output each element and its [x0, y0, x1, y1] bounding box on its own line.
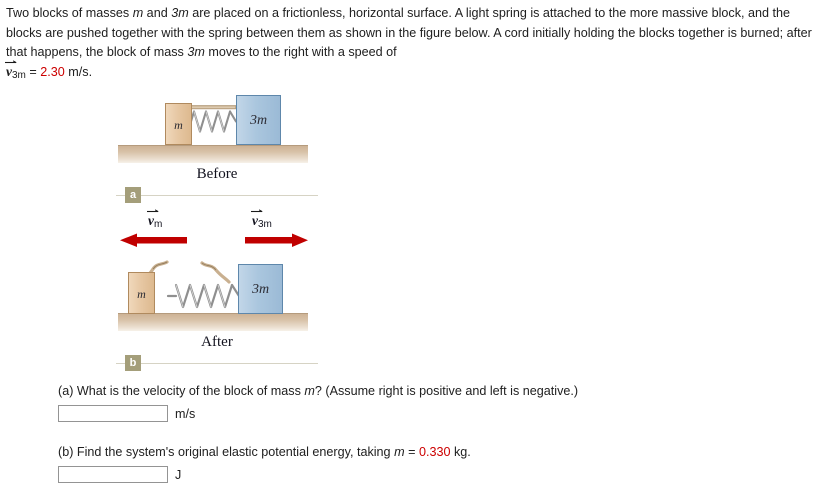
- question-b-var: m: [394, 445, 405, 459]
- question-a-label: (a) What is the velocity of the block of…: [58, 384, 304, 398]
- problem-var-3m-second: 3m: [187, 45, 205, 59]
- velocity-arrow-left-icon: [120, 234, 187, 248]
- question-a-var: m: [304, 384, 315, 398]
- physics-figure: m 3m Before a: [112, 90, 322, 358]
- answer-input-b[interactable]: [58, 466, 168, 483]
- problem-text-part4: moves to the right with a speed of: [205, 45, 397, 59]
- block-3m-label-after: 3m: [252, 282, 269, 297]
- velocity-right-subscript: 3m: [258, 219, 272, 230]
- velocity-arrow-right-icon: [245, 234, 308, 248]
- problem-text-part1: Two blocks of masses: [6, 6, 133, 20]
- figure-panel-after: vm v3m: [112, 210, 322, 358]
- velocity-label-left: vm: [148, 214, 162, 230]
- before-assembly: [112, 90, 322, 165]
- questions-section: (a) What is the velocity of the block of…: [58, 382, 818, 483]
- caption-before: Before: [112, 166, 322, 183]
- panel-tag-row-a: a: [112, 187, 322, 203]
- block-m-label-after: m: [137, 287, 146, 301]
- block-mass-m-before: m: [165, 103, 192, 145]
- panel-tag-row-b: b: [112, 355, 322, 371]
- question-a-text: (a) What is the velocity of the block of…: [58, 382, 818, 400]
- given-equals: =: [26, 65, 40, 79]
- question-b-label-end: kg.: [450, 445, 470, 459]
- question-a-label-end: ? (Assume right is positive and left is …: [315, 384, 578, 398]
- velocity-left-subscript: m: [154, 219, 162, 230]
- question-b-value: 0.330: [419, 445, 451, 459]
- block-mass-m-after: m: [128, 272, 155, 314]
- answer-unit-b: J: [175, 468, 181, 482]
- answer-unit-a: m/s: [175, 407, 195, 421]
- given-velocity-subscript: 3m: [12, 70, 26, 81]
- velocity-arrows-group: [112, 210, 322, 254]
- question-b: (b) Find the system's original elastic p…: [58, 443, 818, 483]
- vector-arrow-overbar-icon-left: [147, 207, 159, 214]
- block-m-label-before: m: [174, 118, 183, 132]
- given-units: m/s.: [65, 65, 92, 79]
- panel-divider-a: [116, 195, 318, 196]
- figure-panel-before: m 3m Before a: [112, 90, 322, 190]
- given-value: 2.30: [40, 65, 65, 79]
- question-b-label: (b) Find the system's original elastic p…: [58, 445, 394, 459]
- spring-extended-icon: [168, 285, 239, 307]
- given-velocity-vector: v3m: [6, 65, 26, 81]
- question-b-equals: =: [405, 445, 419, 459]
- answer-input-a[interactable]: [58, 405, 168, 422]
- problem-text-part2: and: [143, 6, 171, 20]
- velocity-label-right: v3m: [252, 214, 272, 230]
- panel-divider-b: [116, 363, 318, 364]
- block-3m-label-before: 3m: [250, 113, 267, 128]
- block-mass-3m-before: 3m: [236, 95, 281, 145]
- question-a: (a) What is the velocity of the block of…: [58, 382, 818, 422]
- vector-arrow-overbar-icon-right: [251, 207, 263, 214]
- burnt-cord-right-icon: [202, 263, 229, 282]
- problem-var-m: m: [133, 6, 144, 20]
- panel-tag-b: b: [125, 355, 141, 371]
- answer-row-a: m/s: [58, 405, 818, 422]
- block-mass-3m-after: 3m: [238, 264, 283, 314]
- answer-row-b: J: [58, 466, 818, 483]
- vector-arrow-overbar-icon: [5, 58, 17, 65]
- problem-statement: Two blocks of masses m and 3m are placed…: [0, 0, 826, 82]
- caption-after: After: [112, 334, 322, 351]
- problem-var-3m: 3m: [171, 6, 189, 20]
- panel-tag-a: a: [125, 187, 141, 203]
- question-b-text: (b) Find the system's original elastic p…: [58, 443, 818, 461]
